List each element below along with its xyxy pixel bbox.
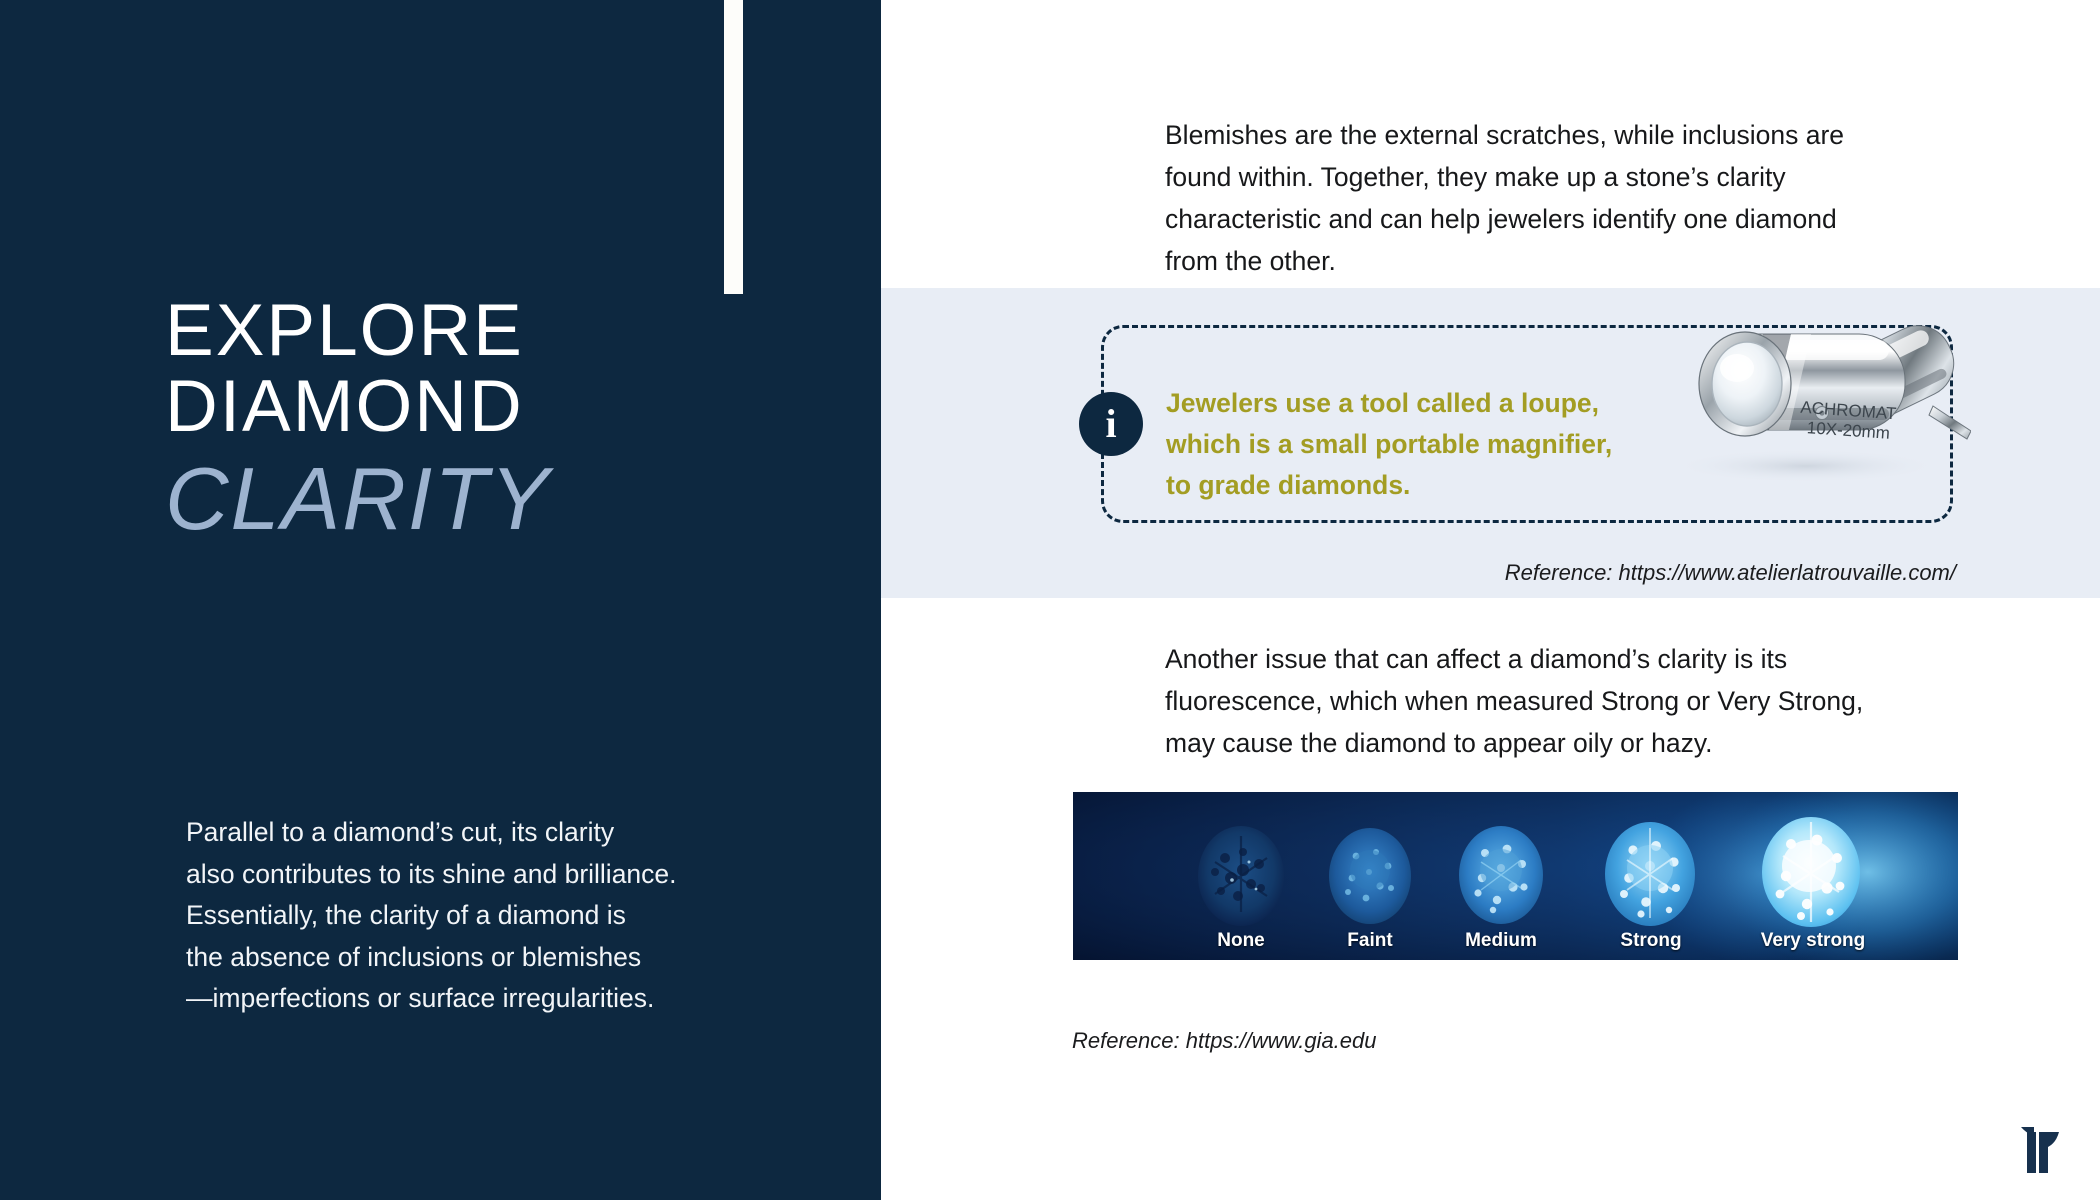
loupe-callout-band: i Jewelers use a tool called a loupe, wh… <box>881 288 2100 598</box>
right-content-panel: Blemishes are the external scratches, wh… <box>881 0 2100 1200</box>
paragraph-line: Essentially, the clarity of a diamond is <box>186 895 786 937</box>
fluorescence-paragraph: Another issue that can affect a diamond’… <box>1165 638 1905 764</box>
paragraph-line: characteristic and can help jewelers ide… <box>1165 198 1905 240</box>
fluor-label-very-strong: Very strong <box>1761 930 1866 952</box>
left-title-panel: EXPLORE DIAMOND CLARITY Parallel to a di… <box>0 0 881 1200</box>
title-emphasis-clarity: CLARITY <box>165 447 805 551</box>
info-icon: i <box>1079 392 1143 456</box>
paragraph-line: found within. Together, they make up a s… <box>1165 156 1905 198</box>
title-line-1: EXPLORE <box>165 293 805 369</box>
fluor-label-faint: Faint <box>1347 930 1392 952</box>
paragraph-line: may cause the diamond to appear oily or … <box>1165 722 1905 764</box>
callout-line: to grade diamonds. <box>1166 465 1636 506</box>
paragraph-line: from the other. <box>1165 240 1905 282</box>
fluor-label-strong: Strong <box>1620 930 1681 952</box>
paragraph-line: —imperfections or surface irregularities… <box>186 978 786 1020</box>
fluorescence-reference-caption: Reference: https://www.gia.edu <box>1072 1028 1377 1054</box>
page-title: EXPLORE DIAMOND CLARITY <box>165 293 805 551</box>
fluor-label-medium: Medium <box>1465 930 1537 952</box>
brand-monogram-logo <box>2008 1118 2072 1176</box>
callout-text: Jewelers use a tool called a loupe, whic… <box>1166 383 1636 506</box>
diamond-fluorescence-comparison-photo: None Faint Medium Strong Very strong <box>1073 792 1958 960</box>
slide-canvas: EXPLORE DIAMOND CLARITY Parallel to a di… <box>0 0 2100 1200</box>
paragraph-line: the absence of inclusions or blemishes <box>186 937 786 979</box>
left-intro-paragraph: Parallel to a diamond’s cut, its clarity… <box>186 812 786 1020</box>
callout-line: Jewelers use a tool called a loupe, <box>1166 383 1636 424</box>
jewelers-loupe-photo: ACHROMAT 10X-20mm <box>1641 288 1971 488</box>
blemishes-paragraph: Blemishes are the external scratches, wh… <box>1165 114 1905 282</box>
paragraph-line: fluorescence, which when measured Strong… <box>1165 680 1905 722</box>
loupe-reference-caption: Reference: https://www.atelierlatrouvail… <box>1505 560 1956 586</box>
title-line-2: DIAMOND <box>165 369 805 445</box>
info-icon-glyph: i <box>1105 404 1116 444</box>
callout-line: which is a small portable magnifier, <box>1166 424 1636 465</box>
paragraph-line: Another issue that can affect a diamond’… <box>1165 638 1905 680</box>
paragraph-line: Blemishes are the external scratches, wh… <box>1165 114 1905 156</box>
paragraph-line: also contributes to its shine and brilli… <box>186 854 786 896</box>
paragraph-line: Parallel to a diamond’s cut, its clarity <box>186 812 786 854</box>
accent-vertical-bar <box>724 0 743 294</box>
fluor-label-none: None <box>1217 930 1265 952</box>
